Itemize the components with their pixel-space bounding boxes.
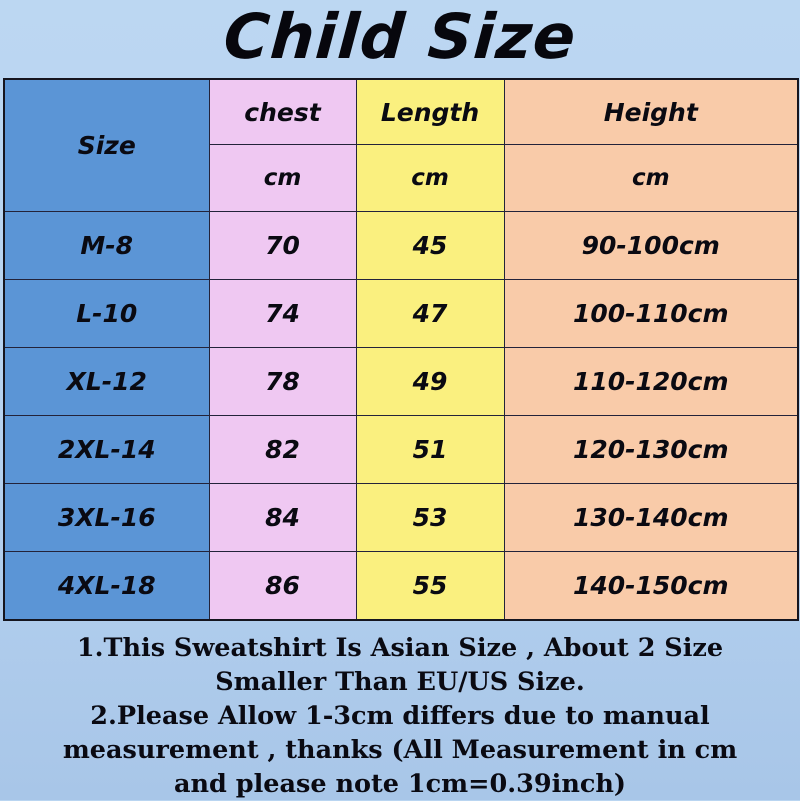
row-height: 100-110cm <box>504 280 798 348</box>
row-size: 3XL-16 <box>4 484 209 552</box>
note-line: 2.Please Allow 1-3cm differs due to manu… <box>16 699 784 733</box>
row-height: 120-130cm <box>504 416 798 484</box>
note-line: Smaller Than EU/US Size. <box>16 665 784 699</box>
note-line: measurement , thanks (All Measurement in… <box>16 733 784 767</box>
header-row-measure: Size chest Length Height <box>4 79 798 145</box>
note-line: 1.This Sweatshirt Is Asian Size , About … <box>16 631 784 665</box>
table-row: XL-12 78 49 110-120cm <box>4 348 798 416</box>
row-chest: 74 <box>209 280 356 348</box>
size-table-header: Size chest Length Height cm cm cm <box>4 79 798 212</box>
header-height: Height <box>504 79 798 145</box>
row-length: 55 <box>356 552 504 621</box>
row-chest: 84 <box>209 484 356 552</box>
header-size: Size <box>4 79 209 212</box>
size-table: Size chest Length Height cm cm cm M-8 70… <box>3 78 799 621</box>
header-length-unit: cm <box>356 145 504 212</box>
disclaimer-notes: 1.This Sweatshirt Is Asian Size , About … <box>0 621 800 801</box>
table-row: M-8 70 45 90-100cm <box>4 212 798 280</box>
header-height-unit: cm <box>504 145 798 212</box>
row-chest: 78 <box>209 348 356 416</box>
row-size: 4XL-18 <box>4 552 209 621</box>
size-chart-poster: Child Size Size chest Length Height cm c… <box>0 0 800 800</box>
table-row: 2XL-14 82 51 120-130cm <box>4 416 798 484</box>
page-title: Child Size <box>222 6 578 68</box>
row-size: 2XL-14 <box>4 416 209 484</box>
row-height: 140-150cm <box>504 552 798 621</box>
header-length: Length <box>356 79 504 145</box>
row-size: M-8 <box>4 212 209 280</box>
table-row: L-10 74 47 100-110cm <box>4 280 798 348</box>
row-size: XL-12 <box>4 348 209 416</box>
row-length: 47 <box>356 280 504 348</box>
row-size: L-10 <box>4 280 209 348</box>
row-length: 53 <box>356 484 504 552</box>
table-row: 3XL-16 84 53 130-140cm <box>4 484 798 552</box>
row-length: 51 <box>356 416 504 484</box>
row-height: 130-140cm <box>504 484 798 552</box>
row-chest: 70 <box>209 212 356 280</box>
header-chest-unit: cm <box>209 145 356 212</box>
row-length: 49 <box>356 348 504 416</box>
row-height: 110-120cm <box>504 348 798 416</box>
poster-title-bar: Child Size <box>0 0 800 78</box>
row-length: 45 <box>356 212 504 280</box>
size-table-container: Size chest Length Height cm cm cm M-8 70… <box>0 78 800 621</box>
row-chest: 86 <box>209 552 356 621</box>
size-table-body: M-8 70 45 90-100cm L-10 74 47 100-110cm … <box>4 212 798 621</box>
note-line: and please note 1cm=0.39inch) <box>16 767 784 801</box>
header-chest: chest <box>209 79 356 145</box>
table-row: 4XL-18 86 55 140-150cm <box>4 552 798 621</box>
row-chest: 82 <box>209 416 356 484</box>
row-height: 90-100cm <box>504 212 798 280</box>
